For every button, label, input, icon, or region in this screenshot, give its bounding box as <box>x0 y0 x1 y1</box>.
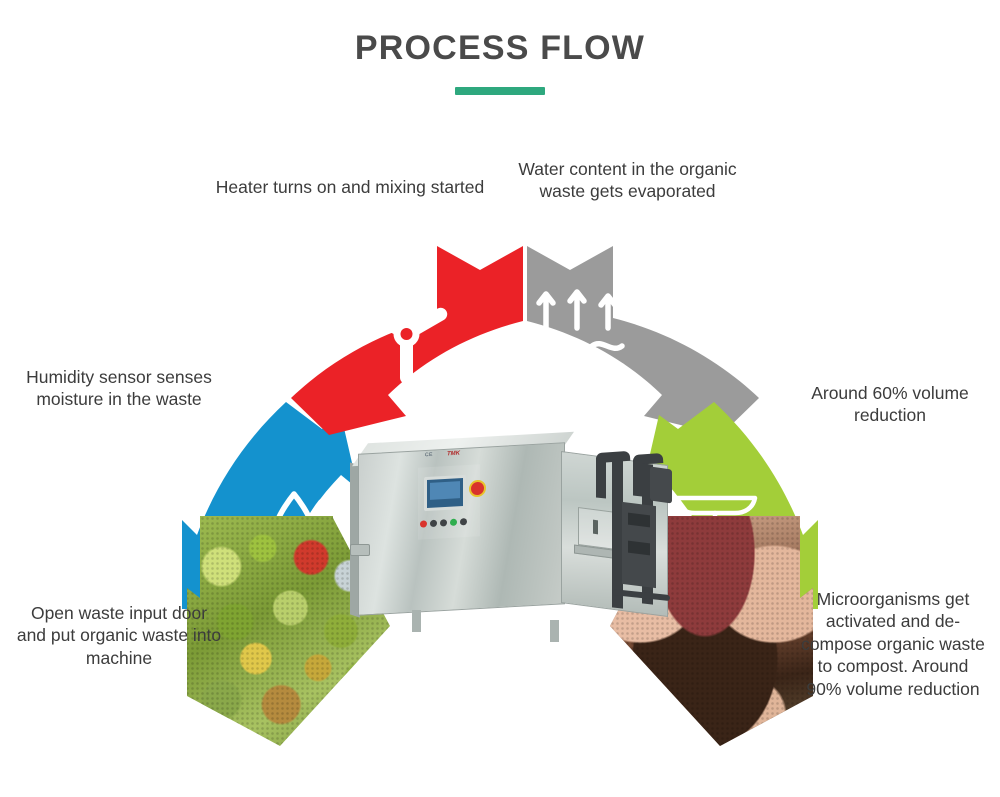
composting-machine-photo: CE TMK <box>350 424 655 659</box>
caption-step-1: Open waste input door and put organic wa… <box>14 602 224 669</box>
segment-step-5[interactable] <box>642 402 818 609</box>
bin-lifter-hook-left <box>596 457 606 498</box>
hmi-touchscreen[interactable] <box>424 475 466 511</box>
machine-outlet-pipe <box>350 544 370 556</box>
caption-step-5: Around 60% volume reduction <box>800 382 980 427</box>
caption-step-4: Water content in the organic waste gets … <box>505 158 750 203</box>
page-title: PROCESS FLOW <box>0 30 1000 67</box>
title-underline <box>455 87 545 95</box>
caption-step-2: Humidity sensor senses moisture in the w… <box>24 366 214 411</box>
machine-door-handle[interactable] <box>593 520 598 535</box>
caption-step-3: Heater turns on and mixing started <box>215 176 485 198</box>
title-block: PROCESS FLOW <box>0 30 1000 95</box>
brand-logo: TMK <box>447 451 460 458</box>
bin-lifter-cradle <box>622 502 656 588</box>
segment-step-4[interactable] <box>527 246 759 435</box>
ce-mark-label: CE <box>425 452 433 458</box>
bin-lifter-hook-right <box>633 460 642 497</box>
bin-lifter-cover <box>650 466 672 503</box>
caption-step-6: Microorganisms get activated and de-comp… <box>798 588 988 700</box>
machine-leg-right <box>550 620 559 642</box>
machine-leg-left <box>412 610 421 632</box>
